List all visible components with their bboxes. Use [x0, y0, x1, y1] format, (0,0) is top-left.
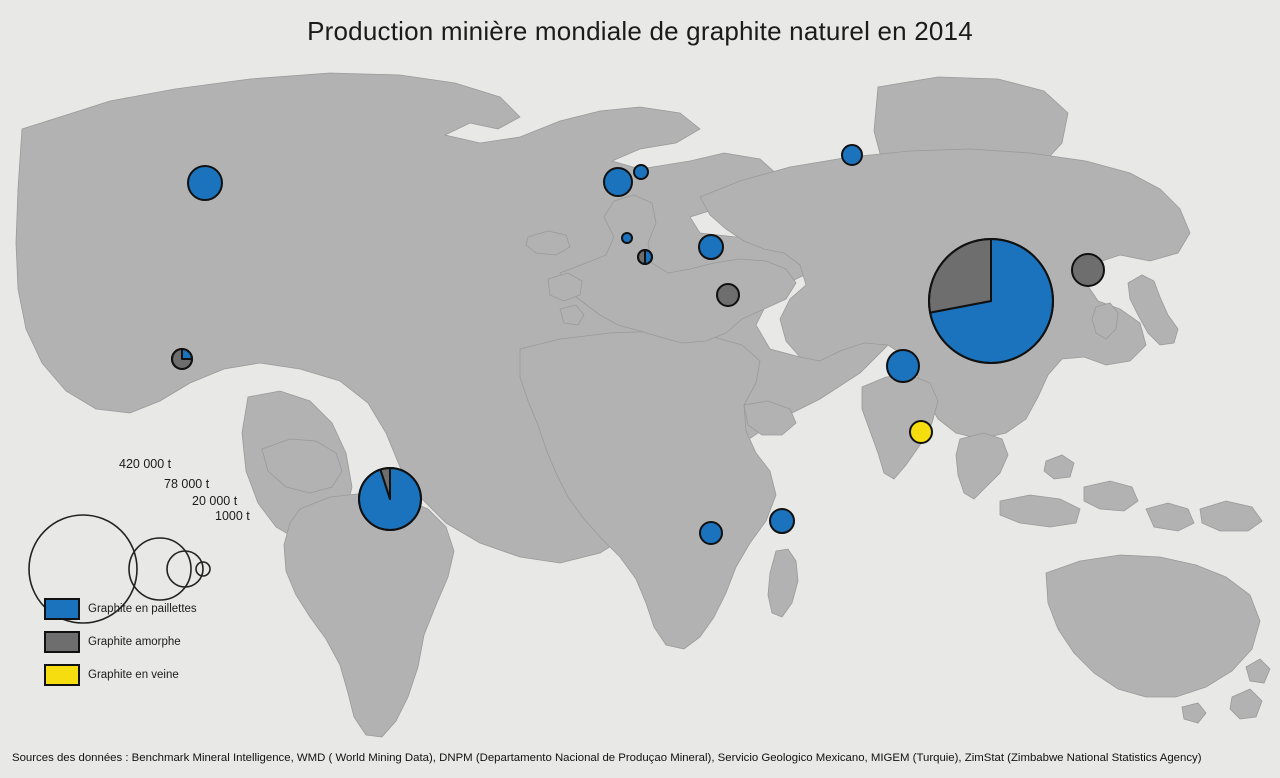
marker-chine[interactable]: [929, 239, 1053, 363]
legend-label-amorphous: Graphite amorphe: [88, 631, 181, 653]
legend-swatch-vein: [44, 664, 80, 686]
marker-madagascar[interactable]: [770, 509, 794, 533]
size-legend-label-78000: 78 000 t: [164, 477, 210, 491]
marker-zimbabwe[interactable]: [700, 522, 722, 544]
marker-allemagne[interactable]: [622, 233, 632, 243]
marker-slice-flake: [604, 168, 632, 196]
marker-ukraine[interactable]: [699, 235, 723, 259]
marker-slice-amorphous: [1072, 254, 1104, 286]
legend-swatch-amorphous: [44, 631, 80, 653]
marker-autriche[interactable]: [638, 250, 652, 264]
size-legend-label-1000: 1000 t: [215, 509, 250, 523]
world-map: 420 000 t 78 000 t 20 000 t 1000 t: [0, 57, 1280, 740]
marker-slice-flake: [634, 165, 648, 179]
marker-turquie[interactable]: [717, 284, 739, 306]
marker-norv-ge[interactable]: [604, 168, 632, 196]
marker-br-sil[interactable]: [359, 468, 421, 530]
marker-slice-flake: [622, 233, 632, 243]
legend-label-flake: Graphite en paillettes: [88, 598, 197, 620]
marker-su-de[interactable]: [634, 165, 648, 179]
size-legend-circle-20000: [167, 551, 203, 587]
legend-swatch-flake: [44, 598, 80, 620]
marker-canada[interactable]: [188, 166, 222, 200]
marker-mexique[interactable]: [172, 349, 192, 369]
marker-cor-e-du-nord[interactable]: [1072, 254, 1104, 286]
page-title: Production minière mondiale de graphite …: [0, 16, 1280, 47]
marker-russie[interactable]: [842, 145, 862, 165]
marker-inde[interactable]: [887, 350, 919, 382]
marker-slice-flake: [699, 235, 723, 259]
marker-slice-flake: [700, 522, 722, 544]
marker-slice-flake: [887, 350, 919, 382]
marker-slice-flake: [188, 166, 222, 200]
size-legend-label-420000: 420 000 t: [119, 457, 172, 471]
marker-slice-flake: [842, 145, 862, 165]
marker-slice-flake: [770, 509, 794, 533]
marker-sri-lanka[interactable]: [910, 421, 932, 443]
marker-slice-vein: [910, 421, 932, 443]
data-sources: Sources des données : Benchmark Mineral …: [12, 752, 1202, 764]
size-legend-label-20000: 20 000 t: [192, 494, 238, 508]
legend-label-vein: Graphite en veine: [88, 664, 179, 686]
marker-slice-amorphous: [717, 284, 739, 306]
size-legend-circle-78000: [129, 538, 191, 600]
